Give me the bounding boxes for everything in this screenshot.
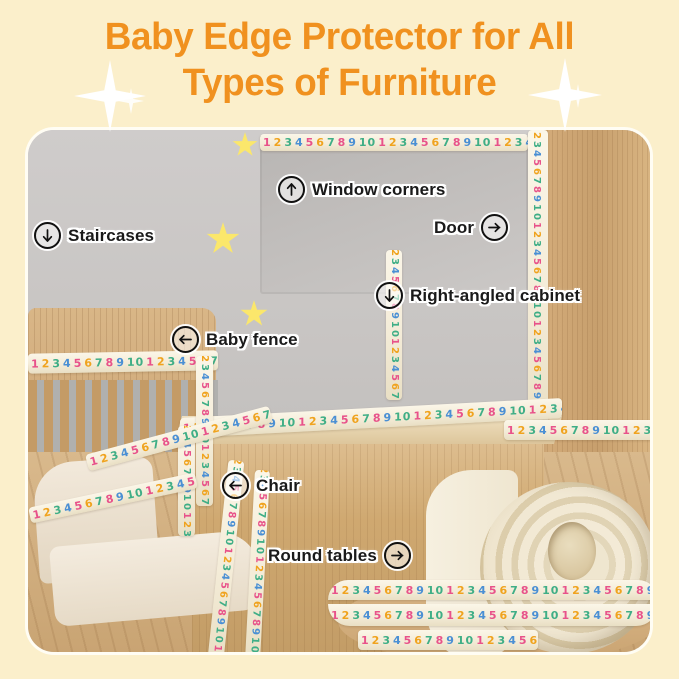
strip-numbers: 1234567891012345678 — [386, 250, 402, 400]
callout-right-angled-cabinet[interactable]: Right-angled cabinet — [376, 282, 580, 309]
arrow-down-circle-icon — [376, 282, 403, 309]
edge-strip-window-side: 1234567891012345678 — [386, 250, 402, 400]
arrow-up-circle-icon — [278, 176, 305, 203]
callout-staircases[interactable]: Staircases — [34, 222, 154, 249]
callout-label: Window corners — [312, 180, 445, 200]
edge-strip-door: 12345678910123456789101234567891012 — [528, 130, 548, 430]
callout-label: Staircases — [68, 226, 154, 246]
foam-roll-core — [548, 522, 596, 580]
strip-numbers: 1234567891012345678910 — [504, 425, 650, 436]
product-scene-photo: 1234567891012345678910123456789 12345678… — [28, 130, 650, 652]
strip-numbers: 12345678910123456789101 — [358, 635, 538, 646]
callout-label: Baby fence — [206, 330, 298, 350]
edge-strip-table-rim-back: 1234567891012345678910123456789101234 — [328, 580, 650, 600]
title-line-2: Types of Furniture — [10, 60, 669, 106]
arrow-right-circle-icon — [481, 214, 508, 241]
strip-numbers: 12345678910123456789101234567891012 — [528, 130, 544, 430]
edge-strip-window: 1234567891012345678910123456789 — [260, 134, 528, 151]
callout-window-corners[interactable]: Window corners — [278, 176, 445, 203]
callout-label: Chair — [256, 476, 300, 496]
arrow-down-circle-icon — [34, 222, 61, 249]
callout-label: Door — [434, 218, 474, 238]
callout-label: Right-angled cabinet — [410, 286, 580, 306]
callout-door[interactable]: Door — [434, 214, 508, 241]
callout-round-tables[interactable]: Round tables — [268, 542, 411, 569]
edge-strip-crib-rail: 123456789101234567891012 — [28, 350, 218, 373]
strip-numbers: 1234567891012345678910123456789 — [260, 137, 528, 148]
strip-numbers: 1234567891012345678910123456789101234 — [328, 610, 650, 621]
edge-strip-loose-piece: 12345678910123456789101 — [358, 630, 538, 650]
arrow-left-circle-icon — [172, 326, 199, 353]
title-line-1: Baby Edge Protector for All — [10, 14, 669, 60]
page-title: Baby Edge Protector for All Types of Fur… — [0, 14, 679, 106]
edge-strip-cabinet-top-right: 1234567891012345678910 — [504, 420, 650, 440]
strip-numbers: 1234567891012345678910123456789101234 — [328, 585, 650, 596]
callout-chair[interactable]: Chair — [222, 472, 300, 499]
edge-strip-table-rim: 1234567891012345678910123456789101234 — [328, 604, 650, 626]
callout-label: Round tables — [268, 546, 377, 566]
arrow-left-circle-icon — [222, 472, 249, 499]
arrow-right-circle-icon — [384, 542, 411, 569]
callout-baby-fence[interactable]: Baby fence — [172, 326, 298, 353]
strip-numbers: 123456789101234567891012 — [28, 354, 218, 369]
